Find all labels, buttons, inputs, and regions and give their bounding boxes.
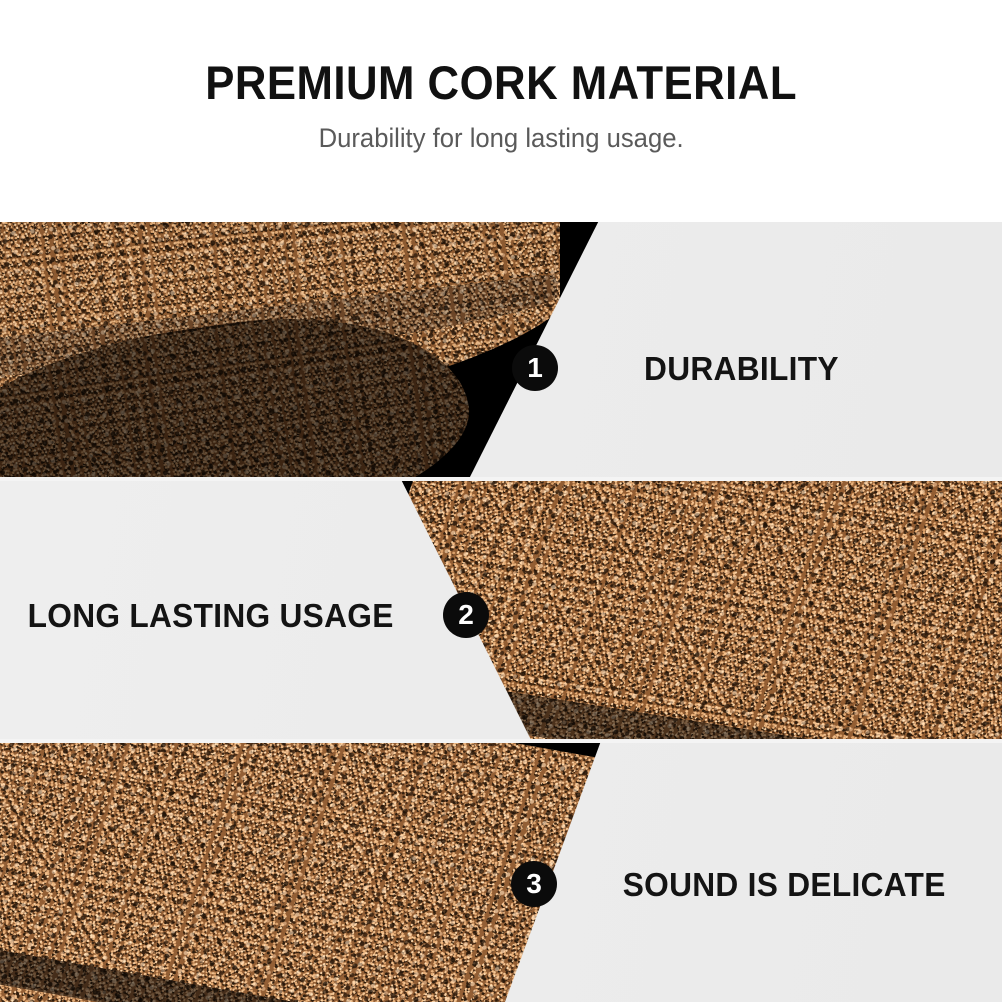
feature-row-1	[0, 222, 1002, 477]
page-title: PREMIUM CORK MATERIAL	[205, 58, 797, 107]
cork-photo-1	[0, 222, 560, 477]
feature-label-long-lasting-usage: LONG LASTING USAGE	[28, 597, 394, 635]
header: PREMIUM CORK MATERIAL Durability for lon…	[0, 0, 1002, 222]
page-subtitle: Durability for long lasting usage.	[318, 123, 683, 154]
feature-badge-3: 3	[511, 861, 557, 907]
feature-label-sound-is-delicate: SOUND IS DELICATE	[623, 866, 946, 904]
infographic-page: PREMIUM CORK MATERIAL Durability for lon…	[0, 0, 1002, 1002]
row-divider-1	[0, 477, 1002, 481]
row-divider-2	[0, 739, 1002, 743]
feature-badge-2: 2	[443, 592, 489, 638]
feature-badge-1: 1	[512, 345, 558, 391]
feature-label-durability: DURABILITY	[644, 350, 839, 388]
